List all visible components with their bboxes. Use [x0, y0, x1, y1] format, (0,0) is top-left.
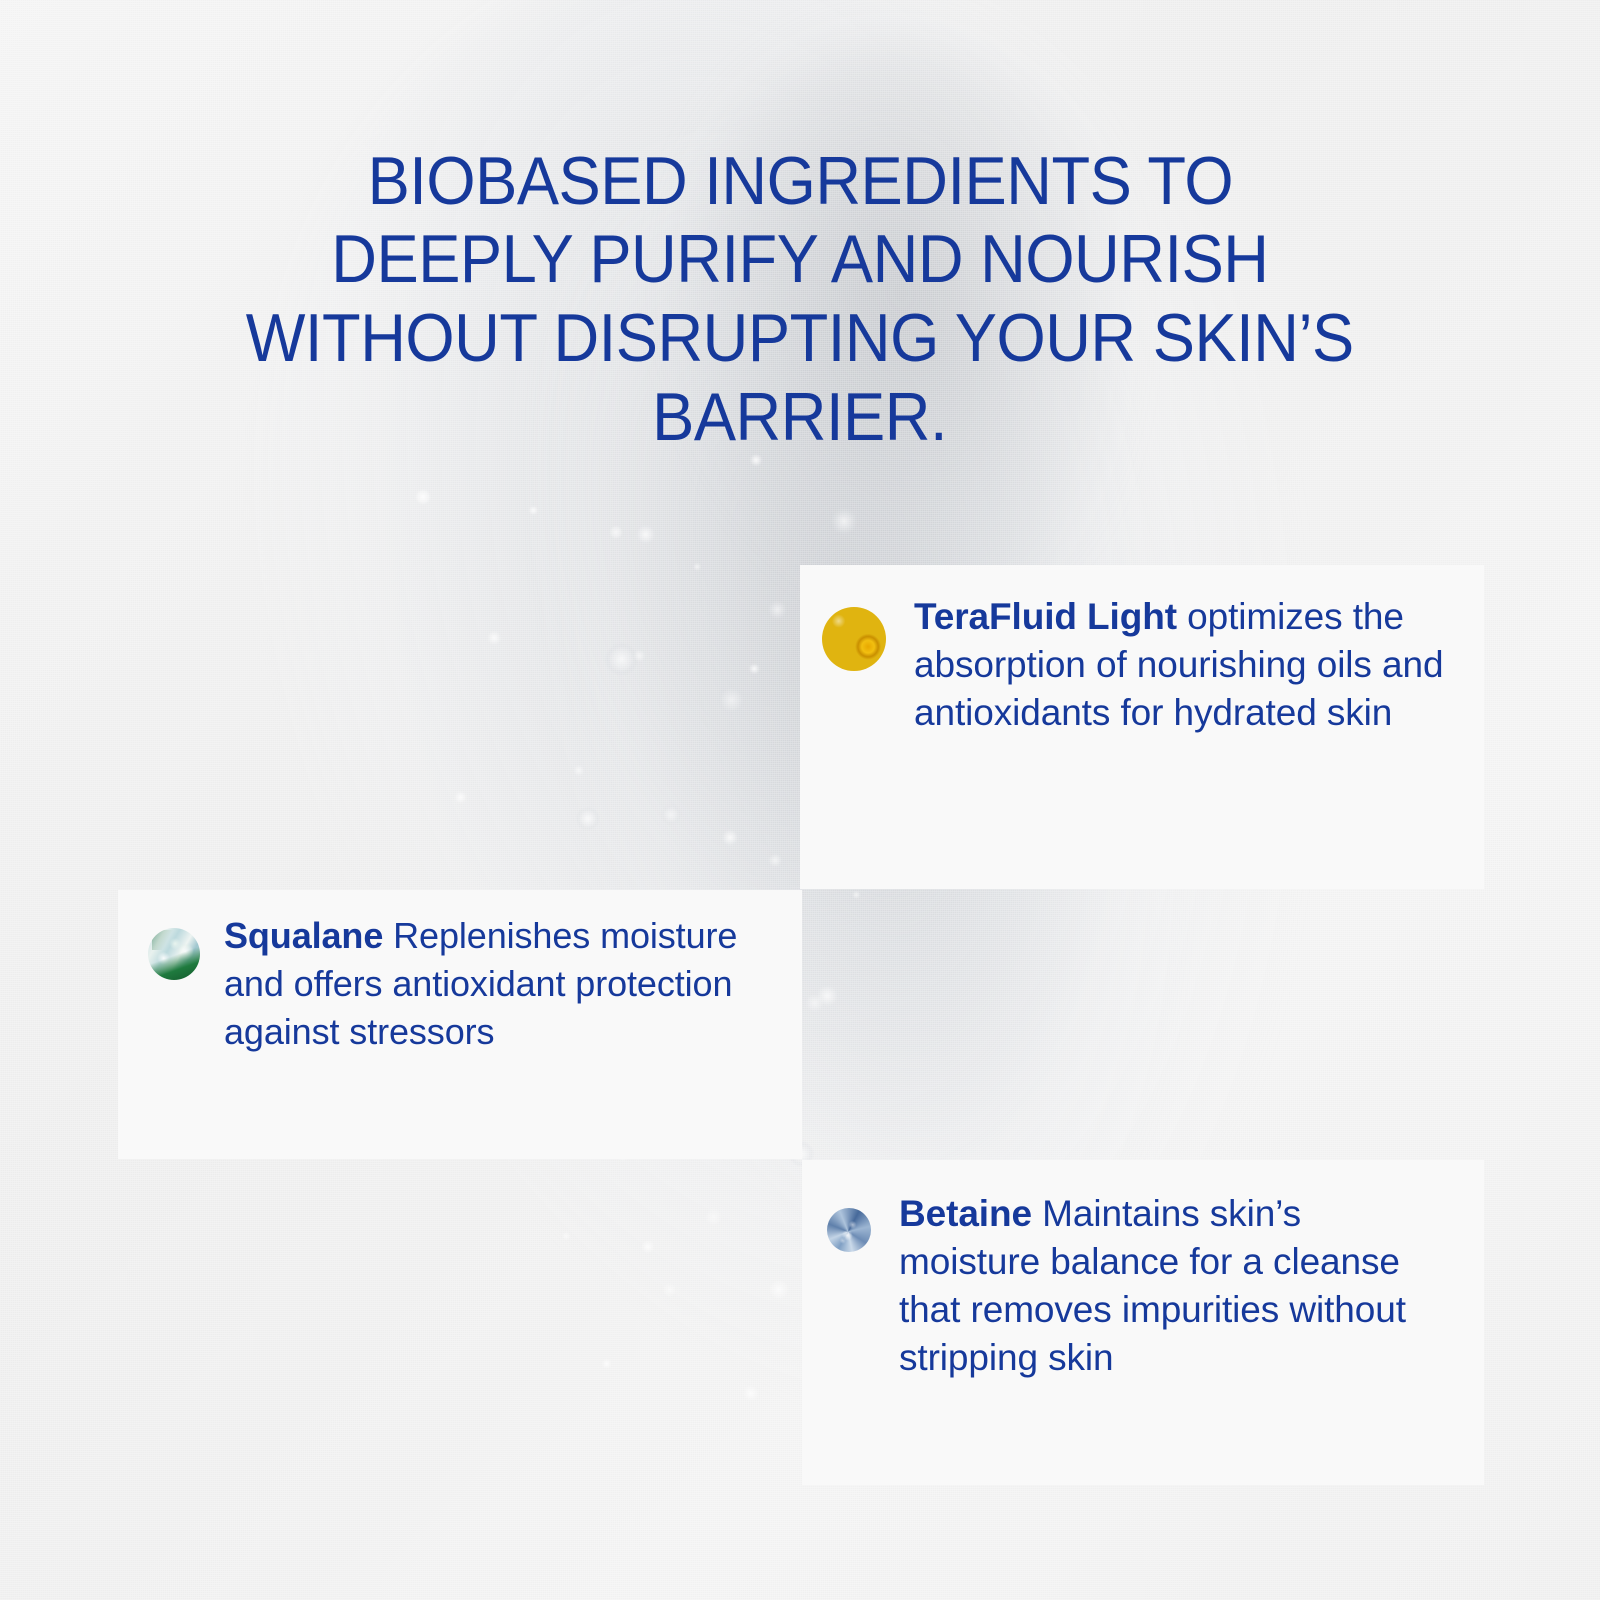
ingredient-card-betaine: Betaine Maintains skin’s moisture balanc…	[802, 1160, 1484, 1485]
headline-line-4: BARRIER.	[653, 378, 948, 457]
ingredient-name: Squalane	[224, 915, 383, 956]
ingredient-card-text: Betaine Maintains skin’s moisture balanc…	[899, 1190, 1450, 1382]
ingredient-card-terafluid-light: TeraFluid Light optimizes the absorption…	[800, 565, 1484, 889]
betaine-water-swirl-icon	[827, 1208, 871, 1252]
ingredient-name: TeraFluid Light	[914, 596, 1177, 637]
oil-droplets-icon	[822, 607, 886, 671]
headline-line-2: DEEPLY PURIFY AND NOURISH	[331, 220, 1268, 299]
ingredient-card-squalane: Squalane Replenishes moisture and offers…	[118, 890, 802, 1159]
page-headline: BIOBASED INGREDIENTS TO DEEPLY PURIFY AN…	[90, 142, 1510, 458]
ingredient-card-text: Squalane Replenishes moisture and offers…	[224, 912, 768, 1056]
headline-line-1: BIOBASED INGREDIENTS TO	[367, 142, 1232, 221]
promo-graphic: BIOBASED INGREDIENTS TO DEEPLY PURIFY AN…	[0, 0, 1600, 1600]
ingredient-name: Betaine	[899, 1193, 1032, 1234]
headline-line-3: WITHOUT DISRUPTING YOUR SKIN’S	[246, 299, 1354, 378]
ingredient-card-text: TeraFluid Light optimizes the absorption…	[914, 593, 1450, 737]
squalane-olive-icon	[148, 928, 200, 980]
